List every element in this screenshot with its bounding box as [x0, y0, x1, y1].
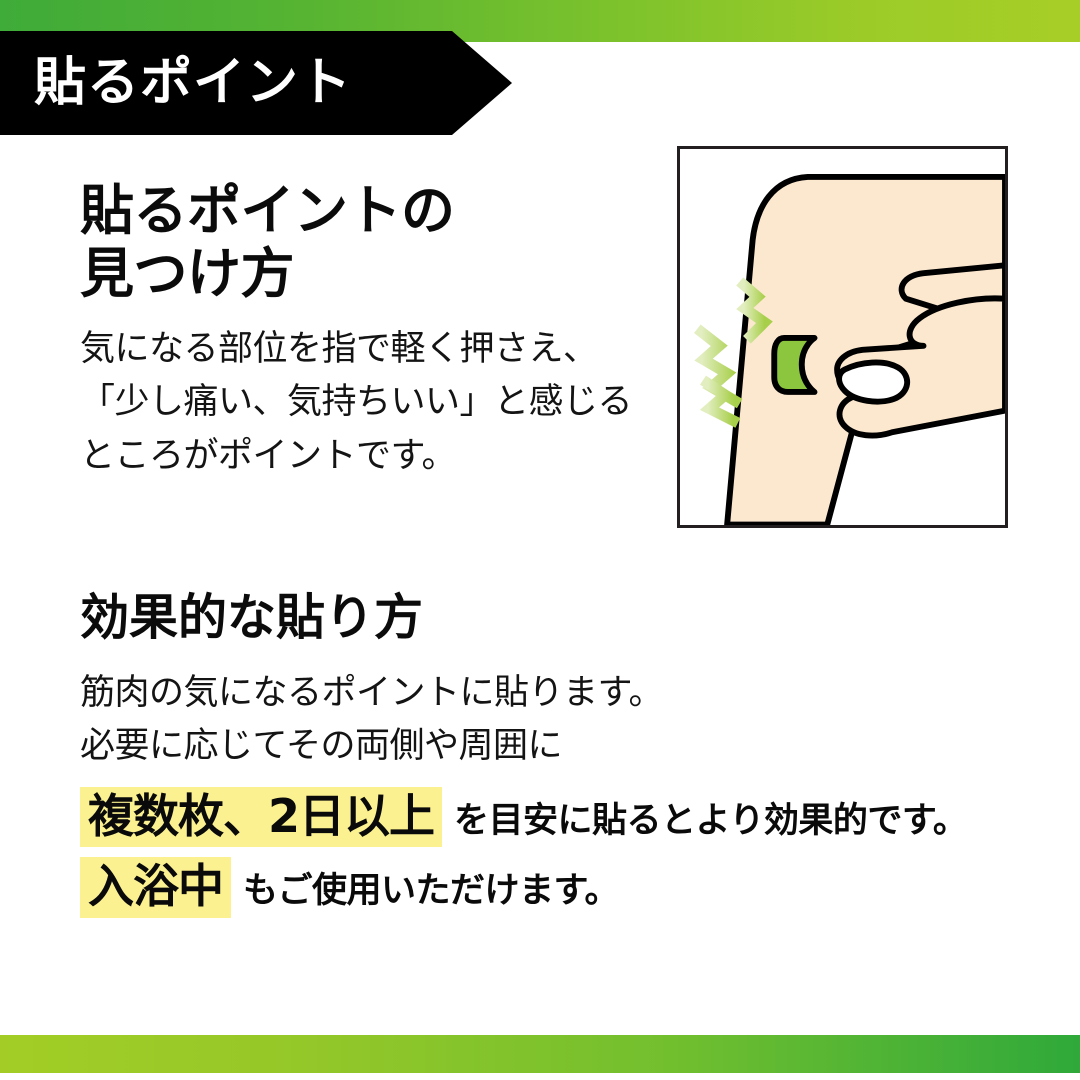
- highlight-row-multi-sheet: 複数枚、2日以上 を目安に貼るとより効果的です。: [80, 787, 1030, 847]
- banner-chevron: 貼るポイント: [0, 31, 512, 135]
- body-line: 必要に応じてその両側や周囲に: [80, 720, 1030, 773]
- section-find-point: 貼るポイントの 見つけ方 気になる部位を指で軽く押さえ、 「少し痛い、気持ちいい…: [80, 180, 680, 483]
- highlight-mark: 複数枚、2日以上: [80, 787, 442, 847]
- section-effective-application: 効果的な貼り方 筋肉の気になるポイントに貼ります。 必要に応じてその両側や周囲に…: [80, 590, 1030, 918]
- section-apply-heading: 効果的な貼り方: [80, 590, 1030, 647]
- section-apply-body: 筋肉の気になるポイントに貼ります。 必要に応じてその両側や周囲に: [80, 667, 1030, 773]
- highlight-mark: 入浴中: [80, 857, 231, 917]
- highlight-tail: もご使用いただけます。: [243, 862, 619, 913]
- section-find-heading: 貼るポイントの 見つけ方: [80, 180, 680, 305]
- illustration-svg: [680, 149, 1005, 525]
- bottom-gradient-bar: [0, 1035, 1080, 1073]
- highlight-tail: を目安に貼るとより効果的です。: [454, 792, 967, 843]
- body-line: 気になる部位を指で軽く押さえ、: [80, 323, 680, 376]
- body-line: 「少し痛い、気持ちいい」と感じる: [80, 376, 680, 429]
- main-content: 貼るポイントの 見つけ方 気になる部位を指で軽く押さえ、 「少し痛い、気持ちいい…: [0, 135, 1080, 1035]
- body-line: 筋肉の気になるポイントに貼ります。: [80, 667, 1030, 720]
- illustration-panel: [677, 146, 1008, 528]
- highlight-row-bathing: 入浴中 もご使用いただけます。: [80, 857, 1030, 917]
- body-line: ところがポイントです。: [80, 430, 680, 483]
- banner-title: 貼るポイント: [34, 57, 352, 109]
- section-find-body: 気になる部位を指で軽く押さえ、 「少し痛い、気持ちいい」と感じる ところがポイン…: [80, 323, 680, 483]
